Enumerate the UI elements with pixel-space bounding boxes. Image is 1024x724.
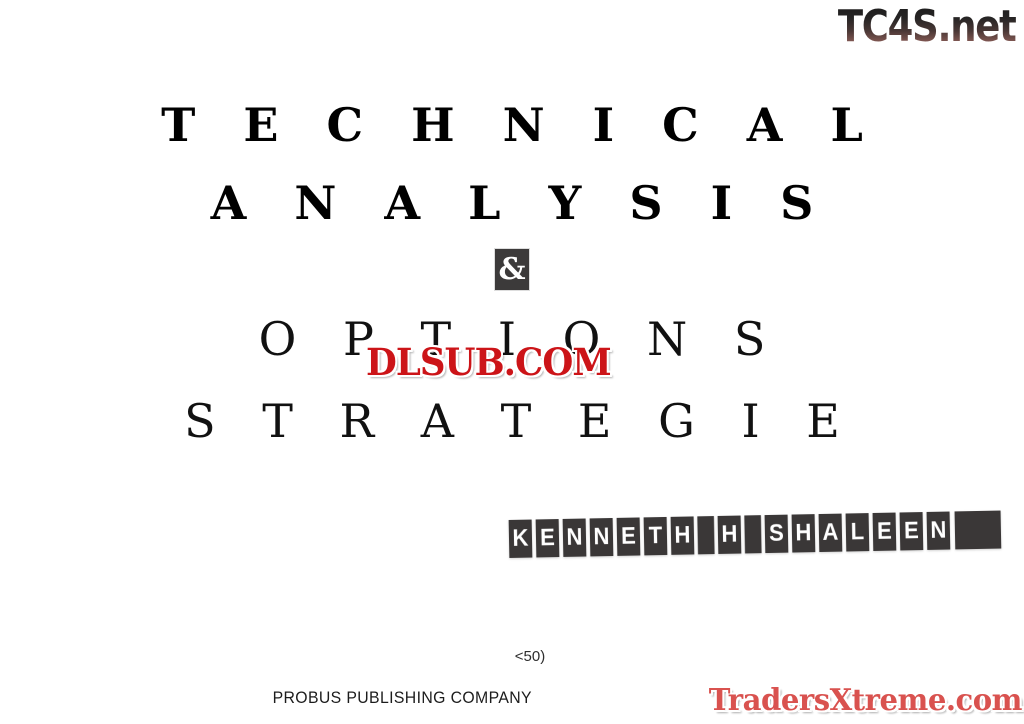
title-block: T E C H N I C A L A N A L Y S I S & O P …	[0, 86, 1024, 462]
author-letter-tile: K	[509, 520, 533, 558]
book-title-page: TC4S.net T E C H N I C A L A N A L Y S I…	[0, 0, 1024, 724]
author-letter-tile: N	[590, 518, 614, 556]
author-name-strip: KENNETH H SHALEEN	[508, 511, 1004, 558]
dlsub-watermark: DLSUB.COM	[366, 340, 611, 384]
author-letter-tile: E	[900, 512, 924, 550]
title-line-technical: T E C H N I C A L	[0, 86, 1024, 164]
title-line-strategie: S T R A T E G I E	[0, 380, 1024, 462]
author-letter-tile: H	[671, 516, 695, 554]
author-letter-tile: H	[792, 514, 816, 552]
ampersand-row: &	[0, 242, 1024, 298]
author-letter-tile: L	[846, 513, 870, 551]
author-letter-tile: A	[819, 514, 843, 552]
tradersxtreme-watermark: TradersXtreme.com	[709, 682, 1022, 720]
tc4s-watermark: TC4S.net	[838, 2, 1016, 52]
author-letter-tile	[744, 515, 761, 553]
ampersand-block: &	[495, 249, 529, 290]
author-letter-tile: E	[536, 519, 560, 557]
author-letter-tile: T	[644, 517, 668, 555]
author-letter-tile: E	[873, 513, 897, 551]
scan-artifact-text: <50)	[18, 648, 1024, 665]
title-line-analysis: A N A L Y S I S	[0, 164, 1024, 242]
author-letter-tile: N	[563, 519, 587, 557]
author-letter-tile: N	[927, 512, 951, 550]
author-letter-tile: H	[718, 516, 742, 554]
author-letter-tile: E	[617, 517, 641, 555]
author-letter-tile	[955, 511, 1002, 550]
author-letter-tile	[697, 516, 714, 554]
author-letter-tile: S	[765, 515, 789, 553]
